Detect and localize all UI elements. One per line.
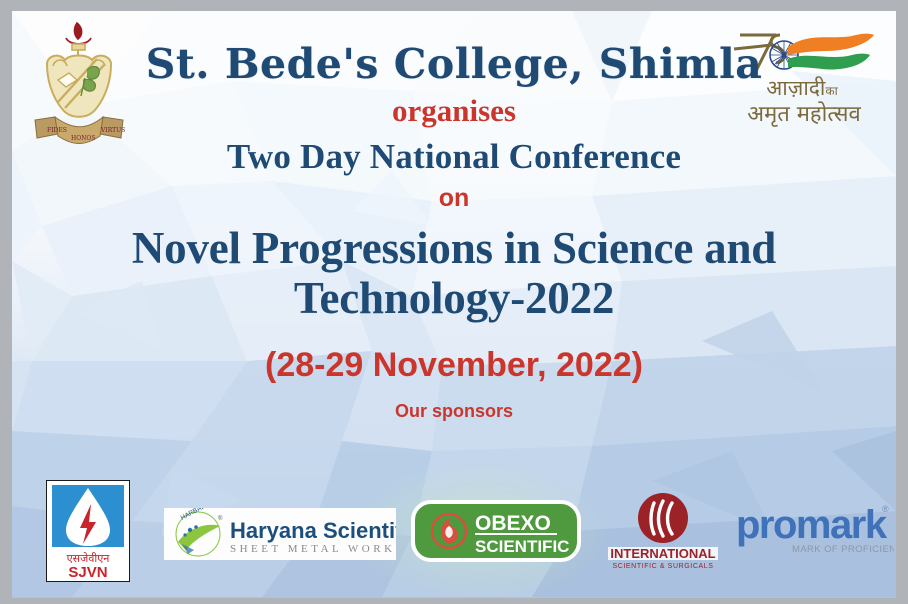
poster-frame: FIDES HONOS VIRTUS <box>0 0 908 604</box>
promark-trademark: ® <box>882 504 889 514</box>
institution-name: St. Bede's College, Shimla <box>12 44 896 85</box>
topic-line-2: Technology-2022 <box>294 273 614 323</box>
promark-name: promark <box>736 503 888 547</box>
sponsor-logo-obexo-scientific[interactable]: OBEXO SCIENTIFIC <box>411 500 581 562</box>
sponsor-logo-sjvn[interactable]: एसजेवीएन SJVN <box>46 480 130 582</box>
obexo-name-line1: OBEXO <box>475 512 551 535</box>
topic-line-1: Novel Progressions in Science and <box>132 223 776 273</box>
iss-name: INTERNATIONAL <box>610 546 715 561</box>
iss-tagline: SCIENTIFIC & SURGICALS <box>612 563 713 569</box>
sponsor-logo-international-scientific[interactable]: INTERNATIONAL SCIENTIFIC & SURGICALS <box>604 491 722 569</box>
sponsors-heading: Our sponsors <box>12 402 896 420</box>
haryana-scientific-name: Haryana Scientific <box>230 518 396 543</box>
conference-dates: (28-29 November, 2022) <box>12 348 896 382</box>
sjvn-name: SJVN <box>68 564 107 581</box>
sponsor-logo-haryana-scientific[interactable]: HARBAW ® Haryana Scientific SHEET METAL … <box>164 508 396 560</box>
sponsor-logo-row: एसजेवीएन SJVN HARBAW <box>12 478 896 586</box>
organises-label: organises <box>12 95 896 126</box>
event-type: Two Day National Conference <box>12 139 896 174</box>
conference-topic: Novel Progressions in Science and Techno… <box>12 223 896 324</box>
obexo-name-line2: SCIENTIFIC <box>475 537 569 556</box>
haryana-scientific-tagline: SHEET METAL WORKS <box>230 543 396 555</box>
sponsor-logo-promark[interactable]: promark ® MARK OF PROFICIENCY <box>734 500 894 556</box>
headline-block: St. Bede's College, Shimla organises Two… <box>12 11 896 420</box>
svg-text:®: ® <box>218 515 223 522</box>
promark-tagline: MARK OF PROFICIENCY <box>792 544 894 555</box>
on-label: on <box>12 186 896 211</box>
poster-canvas: FIDES HONOS VIRTUS <box>12 11 896 598</box>
